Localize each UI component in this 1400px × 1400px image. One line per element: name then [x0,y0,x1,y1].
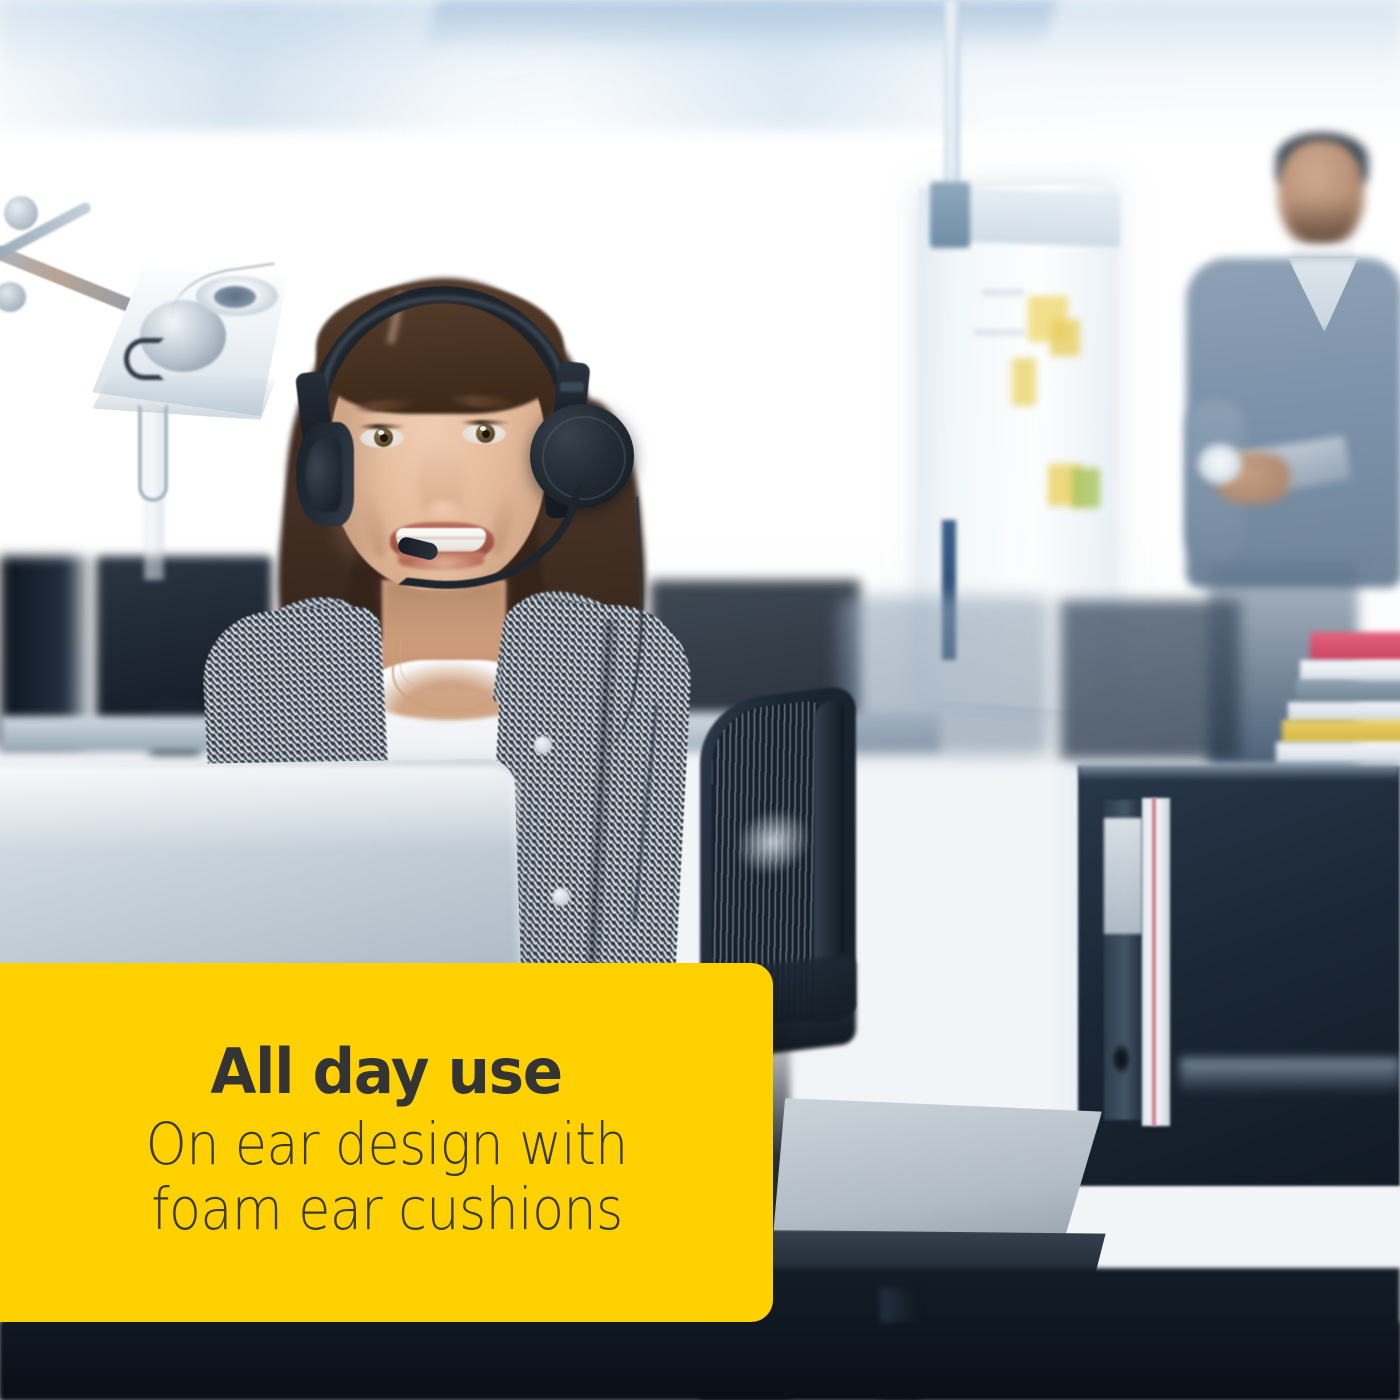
headset-slider-notch [560,382,584,392]
feature-callout-banner: All day use On ear design with foam ear … [0,963,773,1322]
necklace [400,638,506,696]
banner-subtitle-line-2: foam ear cushions [151,1177,623,1242]
cardigan-button [534,736,552,754]
chair-highlight [736,805,810,878]
binder-stripe [1152,798,1156,1126]
foam-ear-cushion [306,438,342,512]
sticky-note [1050,320,1080,356]
cabinet-top-edge [1078,762,1400,780]
flipchart-marker-line [982,290,1024,295]
binder-label [1104,818,1142,934]
laptop-highlight [0,766,518,852]
flipchart-clip [930,182,970,248]
binder-finger-hole [1110,1042,1132,1076]
cardigan-button [552,888,570,906]
book [1276,742,1400,764]
sticky-note [1012,358,1036,406]
product-lifestyle-image: All day use On ear design with foam ear … [0,0,1400,1400]
standing-man-beard [1288,196,1354,244]
ceiling-rail [423,0,1058,52]
book [1310,632,1400,662]
book [1288,702,1400,722]
lamp-handle [138,404,168,502]
shelf-highlight [1180,1058,1400,1094]
banner-subtitle-line-1: On ear design with [146,1112,628,1177]
background-chairs [840,596,1050,756]
lamp-clip [124,338,164,380]
flipchart-marker-line [974,330,1026,335]
floor [0,1322,1400,1400]
book [1300,660,1400,682]
book [1296,680,1400,704]
book [1282,720,1400,744]
sticky-note [1072,468,1100,508]
background-cabinet [1060,600,1240,760]
lamp-joint [4,196,38,230]
banner-title: All day use [211,1039,562,1106]
binder-icon [1142,798,1170,1126]
shirt-cuff [1198,444,1242,484]
